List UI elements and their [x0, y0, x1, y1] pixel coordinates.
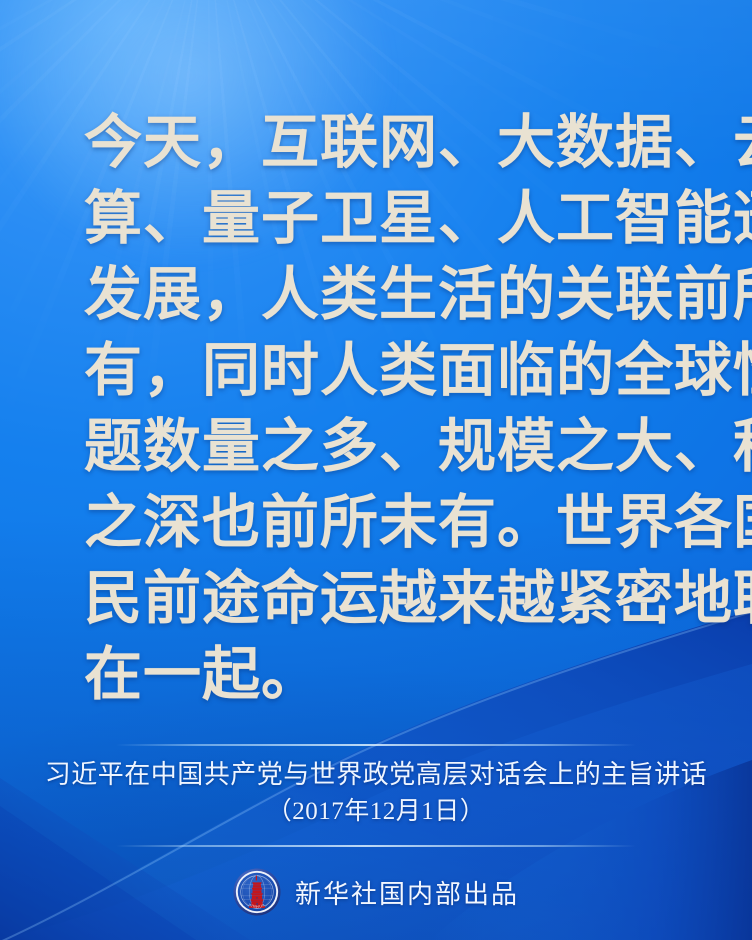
quote-line: 题数量之多、规模之大、程度: [84, 408, 690, 484]
quote-line: 民前途命运越来越紧密地联系: [84, 560, 690, 636]
footer-block: XINHUA 新华社国内部出品: [0, 868, 752, 916]
quote-line: 算、量子卫星、人工智能迅猛: [84, 180, 690, 256]
quote-line: 在一起。: [84, 636, 690, 712]
quote-line: 有，同时人类面临的全球性问: [84, 332, 690, 408]
quote-line: 发展，人类生活的关联前所未: [84, 256, 690, 332]
quote-block: 今天，互联网、大数据、云计 算、量子卫星、人工智能迅猛 发展，人类生活的关联前所…: [84, 104, 690, 712]
attribution-block: 习近平在中国共产党与世界政党高层对话会上的主旨讲话 （2017年12月1日）: [0, 757, 752, 831]
divider-above-footer: [116, 845, 636, 847]
quote-line: 今天，互联网、大数据、云计: [84, 104, 690, 180]
divider-above-attribution: [116, 744, 636, 746]
speech-date: （2017年12月1日）: [0, 793, 752, 831]
quote-line: 之深也前所未有。世界各国人: [84, 484, 690, 560]
poster-root: 今天，互联网、大数据、云计 算、量子卫星、人工智能迅猛 发展，人类生活的关联前所…: [0, 0, 752, 940]
speech-title: 习近平在中国共产党与世界政党高层对话会上的主旨讲话: [0, 757, 752, 793]
xinhua-logo-icon: XINHUA: [233, 868, 281, 916]
publisher-label: 新华社国内部出品: [295, 874, 519, 911]
